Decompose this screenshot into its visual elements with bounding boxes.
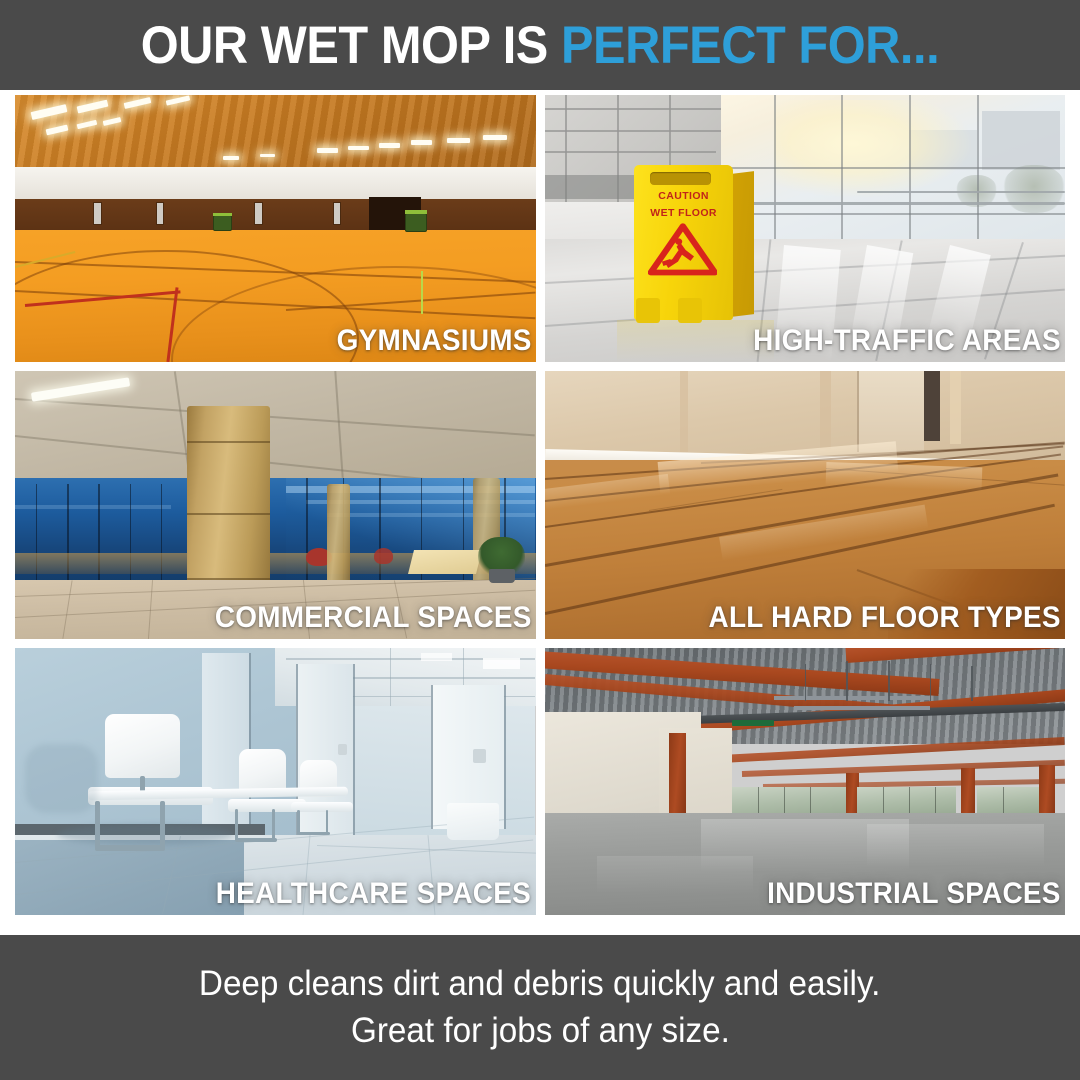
panel-caption: GYMNASIUMS [336, 326, 531, 356]
footer-bar: Deep cleans dirt and debris quickly and … [0, 935, 1080, 1080]
panel-commercial-spaces: COMMERCIAL SPACES [15, 371, 536, 638]
waiting-chair [88, 714, 213, 853]
high-traffic-photo: CAUTION WET FLOOR [545, 95, 1066, 362]
hardwood-floor-photo [545, 371, 1066, 638]
panel-all-hard-floor-types: ALL HARD FLOOR TYPES [545, 371, 1066, 638]
panel-industrial-spaces: INDUSTRIAL SPACES [545, 648, 1066, 915]
page-title: OUR WET MOP IS PERFECT FOR... [141, 19, 939, 72]
gymnasium-photo [15, 95, 536, 362]
panel-caption: HIGH-TRAFFIC AREAS [753, 326, 1061, 356]
healthcare-corridor-photo [15, 648, 536, 915]
panel-caption: ALL HARD FLOOR TYPES [709, 603, 1061, 633]
sign-caption-line2: WET FLOOR [634, 208, 734, 220]
waiting-chair [291, 760, 353, 840]
panel-high-traffic-areas: CAUTION WET FLOOR [545, 95, 1066, 362]
slip-hazard-triangle-icon [648, 223, 718, 276]
header-bar: OUR WET MOP IS PERFECT FOR... [0, 0, 1080, 90]
industrial-warehouse-photo [545, 648, 1066, 915]
panel-healthcare-spaces: HEALTHCARE SPACES [15, 648, 536, 915]
panel-gymnasiums: GYMNASIUMS [15, 95, 536, 362]
page-title-part2: PERFECT FOR... [561, 16, 939, 75]
panel-caption: INDUSTRIAL SPACES [767, 879, 1061, 909]
panel-caption: HEALTHCARE SPACES [216, 879, 531, 909]
panel-caption: COMMERCIAL SPACES [215, 603, 532, 633]
footer-line-2: Great for jobs of any size. [351, 1008, 730, 1054]
page-title-part1: OUR WET MOP IS [141, 16, 561, 75]
footer-line-1: Deep cleans dirt and debris quickly and … [199, 961, 880, 1007]
feature-panel-grid: GYMNASIUMS [15, 95, 1065, 915]
commercial-lobby-photo [15, 371, 536, 638]
sign-caption-line1: CAUTION [634, 191, 734, 203]
wet-floor-sign: CAUTION WET FLOOR [628, 165, 779, 320]
